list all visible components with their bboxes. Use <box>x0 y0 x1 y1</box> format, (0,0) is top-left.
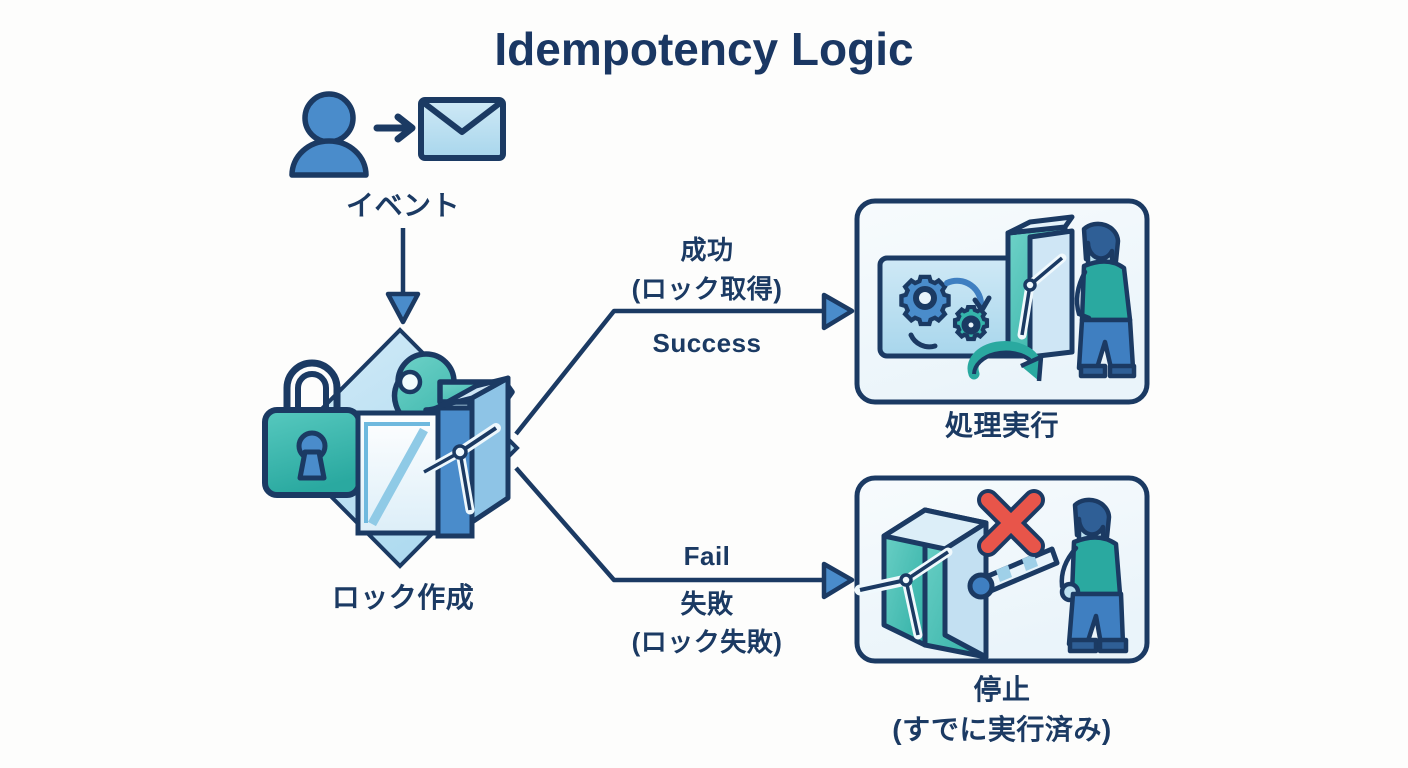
edge-success <box>516 295 852 434</box>
edge-success-label-line2: (ロック取得) <box>632 269 783 306</box>
edge-success-label-en: Success <box>652 328 761 359</box>
diagram-canvas: Idempotency Logic <box>0 0 1408 768</box>
outcome-box-stop <box>857 478 1147 661</box>
edge-fail-label-en: Fail <box>684 541 731 572</box>
arrow-right-icon <box>377 117 412 139</box>
decision-node-label: ロック作成 <box>332 576 475 616</box>
edge-event-to-lock <box>388 228 418 322</box>
start-node-label: イベント <box>346 184 460 224</box>
edge-fail-label-line2: (ロック失敗) <box>632 622 783 659</box>
outcome-process-execute-label: 処理実行 <box>945 404 1059 444</box>
edge-success-label-line1: 成功 <box>680 230 733 267</box>
person-icon <box>292 94 366 175</box>
outcome-stop-label-line2: (すでに実行済み) <box>892 708 1111 748</box>
turnstile-icon <box>1008 217 1072 357</box>
edge-fail <box>516 468 852 597</box>
edge-fail-label-line1: 失敗 <box>680 584 733 621</box>
outcome-box-process-execute <box>857 201 1147 402</box>
envelope-icon <box>421 100 503 158</box>
outcome-stop-label-line1: 停止 <box>973 668 1030 708</box>
